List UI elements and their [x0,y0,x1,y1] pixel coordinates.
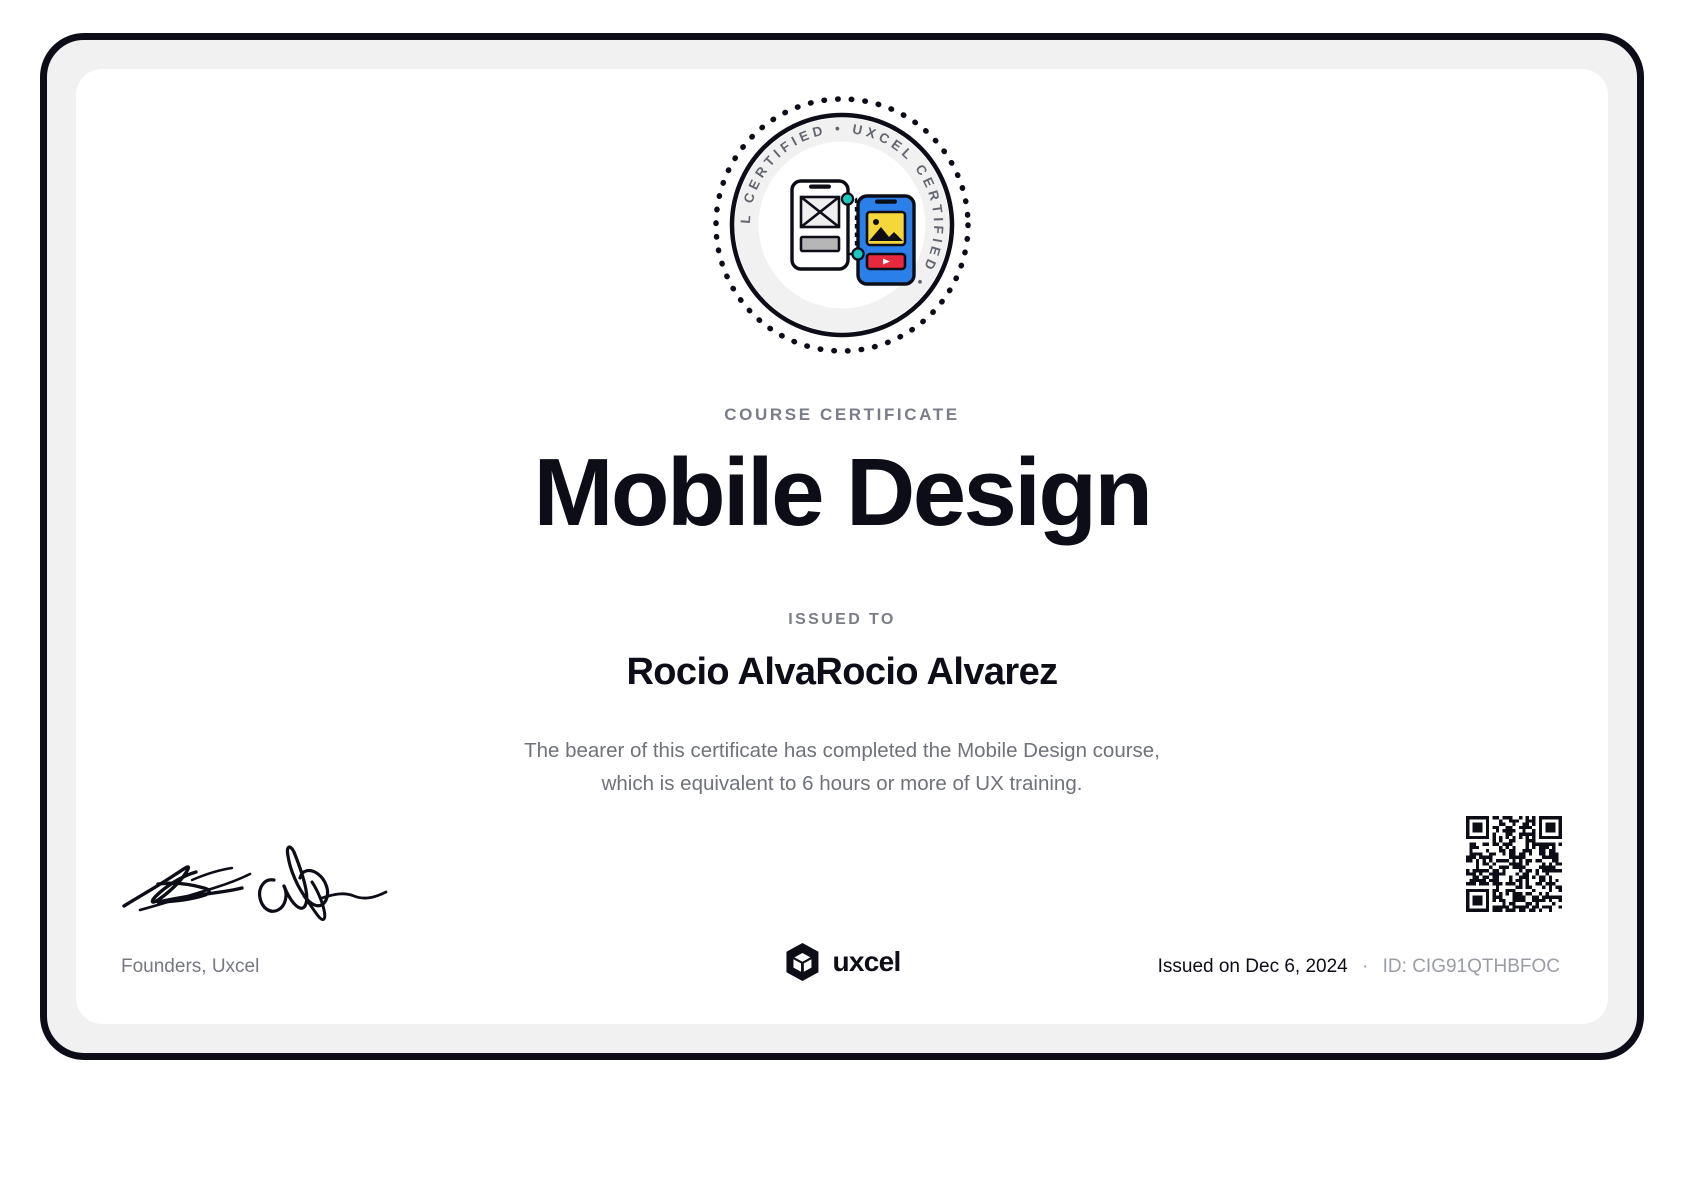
brand-wordmark: uxcel [832,946,900,978]
issued-to-label: ISSUED TO [76,611,1608,629]
issued-on-date: Issued on Dec 6, 2024 [1158,956,1348,977]
qr-code-icon [1466,816,1562,912]
description-line-1: The bearer of this certificate has compl… [76,734,1608,767]
founders-signatures [118,844,418,928]
founders-role-label: Founders, Uxcel [121,956,259,978]
certificate-frame: UXCEL CERTIFIED • UXCEL CERTIFIED • [40,33,1644,1060]
uxcel-cube-logo [783,942,821,982]
description-line-2: which is equivalent to 6 hours or more o… [76,767,1608,800]
uxcel-brand-logo: uxcel [783,942,900,982]
course-certificate-label: COURSE CERTIFICATE [76,405,1608,425]
meta-separator: · [1362,956,1368,977]
signature-icon [118,844,418,928]
mobile-design-badge-icon: UXCEL CERTIFIED • UXCEL CERTIFIED • [708,91,976,359]
certificate-meta: Issued on Dec 6, 2024 · ID: CIG91QTHBFOC [1158,956,1560,978]
certificate-qr-code[interactable] [1466,816,1562,912]
page-title: Mobile Design [76,439,1608,547]
certificate-id: ID: CIG91QTHBFOC [1383,956,1560,977]
certificate-description: The bearer of this certificate has compl… [76,734,1608,800]
certificate-card: UXCEL CERTIFIED • UXCEL CERTIFIED • [76,69,1608,1024]
recipient-name: Rocio AlvaRocio Alvarez [76,651,1608,694]
uxcel-certified-seal: UXCEL CERTIFIED • UXCEL CERTIFIED • [708,91,976,359]
